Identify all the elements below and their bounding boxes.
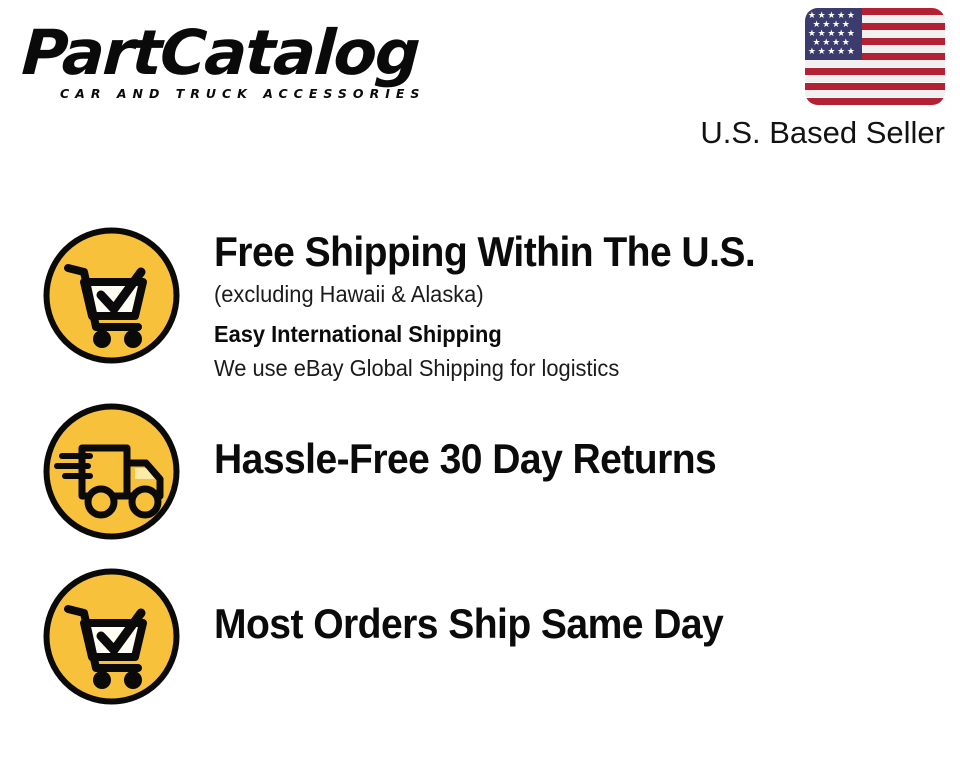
feature-title: Free Shipping Within The U.S. <box>214 228 908 275</box>
feature-text: Hassle-Free 30 Day Returns <box>214 400 960 482</box>
flag-stripe <box>805 75 945 82</box>
flag-stripe <box>805 83 945 90</box>
feature-title: Most Orders Ship Same Day <box>214 600 908 647</box>
shopping-cart-check-icon <box>40 224 183 367</box>
feature-title: Hassle-Free 30 Day Returns <box>214 435 908 482</box>
flag-stripe <box>805 68 945 75</box>
seller-label: U.S. Based Seller <box>685 116 945 150</box>
feature-row: Hassle-Free 30 Day Returns <box>0 400 960 543</box>
feature-subtitle-secondary: We use eBay Global Shipping for logistic… <box>214 353 923 383</box>
flag-stripe <box>805 60 945 67</box>
feature-row: Free Shipping Within The U.S. (excluding… <box>0 224 960 383</box>
feature-row: Most Orders Ship Same Day <box>0 565 960 708</box>
seller-badge: ★ ★ ★ ★ ★ ★ ★ ★ ★ ★ ★ ★ ★ ★ ★ ★ ★ ★ ★ ★ <box>685 8 945 150</box>
flag-stripe <box>805 90 945 97</box>
feature-subtitle-strong: Easy International Shipping <box>214 319 923 349</box>
us-flag-icon: ★ ★ ★ ★ ★ ★ ★ ★ ★ ★ ★ ★ ★ ★ ★ ★ ★ ★ ★ ★ <box>805 8 945 105</box>
brand-tagline: CAR AND TRUCK ACCESSORIES <box>60 87 492 101</box>
shopping-cart-check-icon <box>40 565 183 708</box>
brand-logo[interactable]: PartCatalog CAR AND TRUCK ACCESSORIES <box>22 22 492 101</box>
feature-text: Free Shipping Within The U.S. (excluding… <box>214 224 960 383</box>
feature-subtitle: (excluding Hawaii & Alaska) <box>214 279 923 309</box>
flag-canton: ★ ★ ★ ★ ★ ★ ★ ★ ★ ★ ★ ★ ★ ★ ★ ★ ★ ★ ★ ★ <box>805 8 862 60</box>
feature-text: Most Orders Ship Same Day <box>214 565 960 647</box>
brand-wordmark: PartCatalog <box>20 22 503 84</box>
flag-stripe <box>805 98 945 105</box>
delivery-truck-icon <box>40 400 183 543</box>
header: PartCatalog CAR AND TRUCK ACCESSORIES ★ … <box>0 0 960 165</box>
